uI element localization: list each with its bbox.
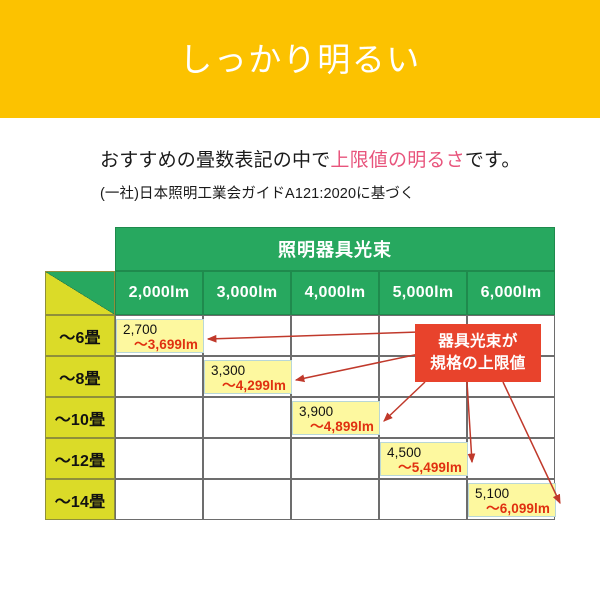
table-group-header: 照明器具光束 (115, 227, 555, 271)
table-cell (467, 397, 555, 438)
value-box-1: 2,700～3,699lm (116, 319, 204, 353)
header-banner: しっかり明るい (0, 0, 600, 118)
column-header-4: 5,000lm (379, 271, 467, 315)
column-header-1: 2,000lm (115, 271, 203, 315)
value-lower-3: 3,900 (299, 404, 374, 419)
value-lower-4: 4,500 (387, 445, 462, 460)
row-header-2: ～8畳 (45, 356, 115, 397)
table-cell (203, 397, 291, 438)
value-box-5: 5,100～6,099lm (468, 483, 556, 517)
row-header-5: ～14畳 (45, 479, 115, 520)
column-header-2: 3,000lm (203, 271, 291, 315)
value-lower-2: 3,300 (211, 363, 286, 378)
table-cell (291, 479, 379, 520)
value-upper-1: ～3,699lm (123, 337, 198, 353)
standard-note: (一社)日本照明工業会ガイドA121:2020に基づく (100, 182, 540, 203)
table-cell (115, 438, 203, 479)
column-header-5: 6,000lm (467, 271, 555, 315)
value-lower-1: 2,700 (123, 322, 198, 337)
table-cell (203, 315, 291, 356)
value-upper-5: ～6,099lm (475, 501, 550, 517)
table-cell (203, 438, 291, 479)
value-box-3: 3,900～4,899lm (292, 401, 380, 435)
table-cell (203, 479, 291, 520)
row-header-1: ～6畳 (45, 315, 115, 356)
page-title: しっかり明るい (0, 0, 600, 118)
callout-line-1: 器具光束が (438, 331, 518, 353)
table-cell (291, 315, 379, 356)
value-lower-5: 5,100 (475, 486, 550, 501)
table-cell (115, 479, 203, 520)
value-upper-4: ～5,499lm (387, 460, 462, 476)
callout-box: 器具光束が 規格の上限値 (415, 324, 541, 382)
row-header-4: ～12畳 (45, 438, 115, 479)
table-cell (291, 356, 379, 397)
lead-prefix: おすすめの畳数表記の中で (100, 150, 330, 171)
table-cell (115, 356, 203, 397)
table-cell (291, 438, 379, 479)
lead-suffix: です。 (465, 150, 521, 171)
callout-line-2: 規格の上限値 (430, 353, 525, 375)
value-upper-3: ～4,899lm (299, 419, 374, 435)
slide-root: しっかり明るい おすすめの畳数表記の中で上限値の明るさです。 (一社)日本照明工… (0, 0, 600, 600)
value-box-2: 3,300～4,299lm (204, 360, 292, 394)
table-cell (467, 438, 555, 479)
table-cell (115, 397, 203, 438)
row-header-3: ～10畳 (45, 397, 115, 438)
column-header-3: 4,000lm (291, 271, 379, 315)
diagonal-split-shape (46, 272, 114, 314)
value-upper-2: ～4,299lm (211, 378, 286, 394)
luminous-flux-table: 照明器具光束 2,000lm3,000lm4,000lm5,000lm6,000… (45, 227, 555, 538)
lead-highlight: 上限値の明るさ (330, 150, 464, 171)
lead-sentence: おすすめの畳数表記の中で上限値の明るさです。 (100, 145, 540, 172)
table-cell (379, 397, 467, 438)
value-box-4: 4,500～5,499lm (380, 442, 468, 476)
table-cell (379, 479, 467, 520)
table-corner-cell (45, 271, 115, 315)
